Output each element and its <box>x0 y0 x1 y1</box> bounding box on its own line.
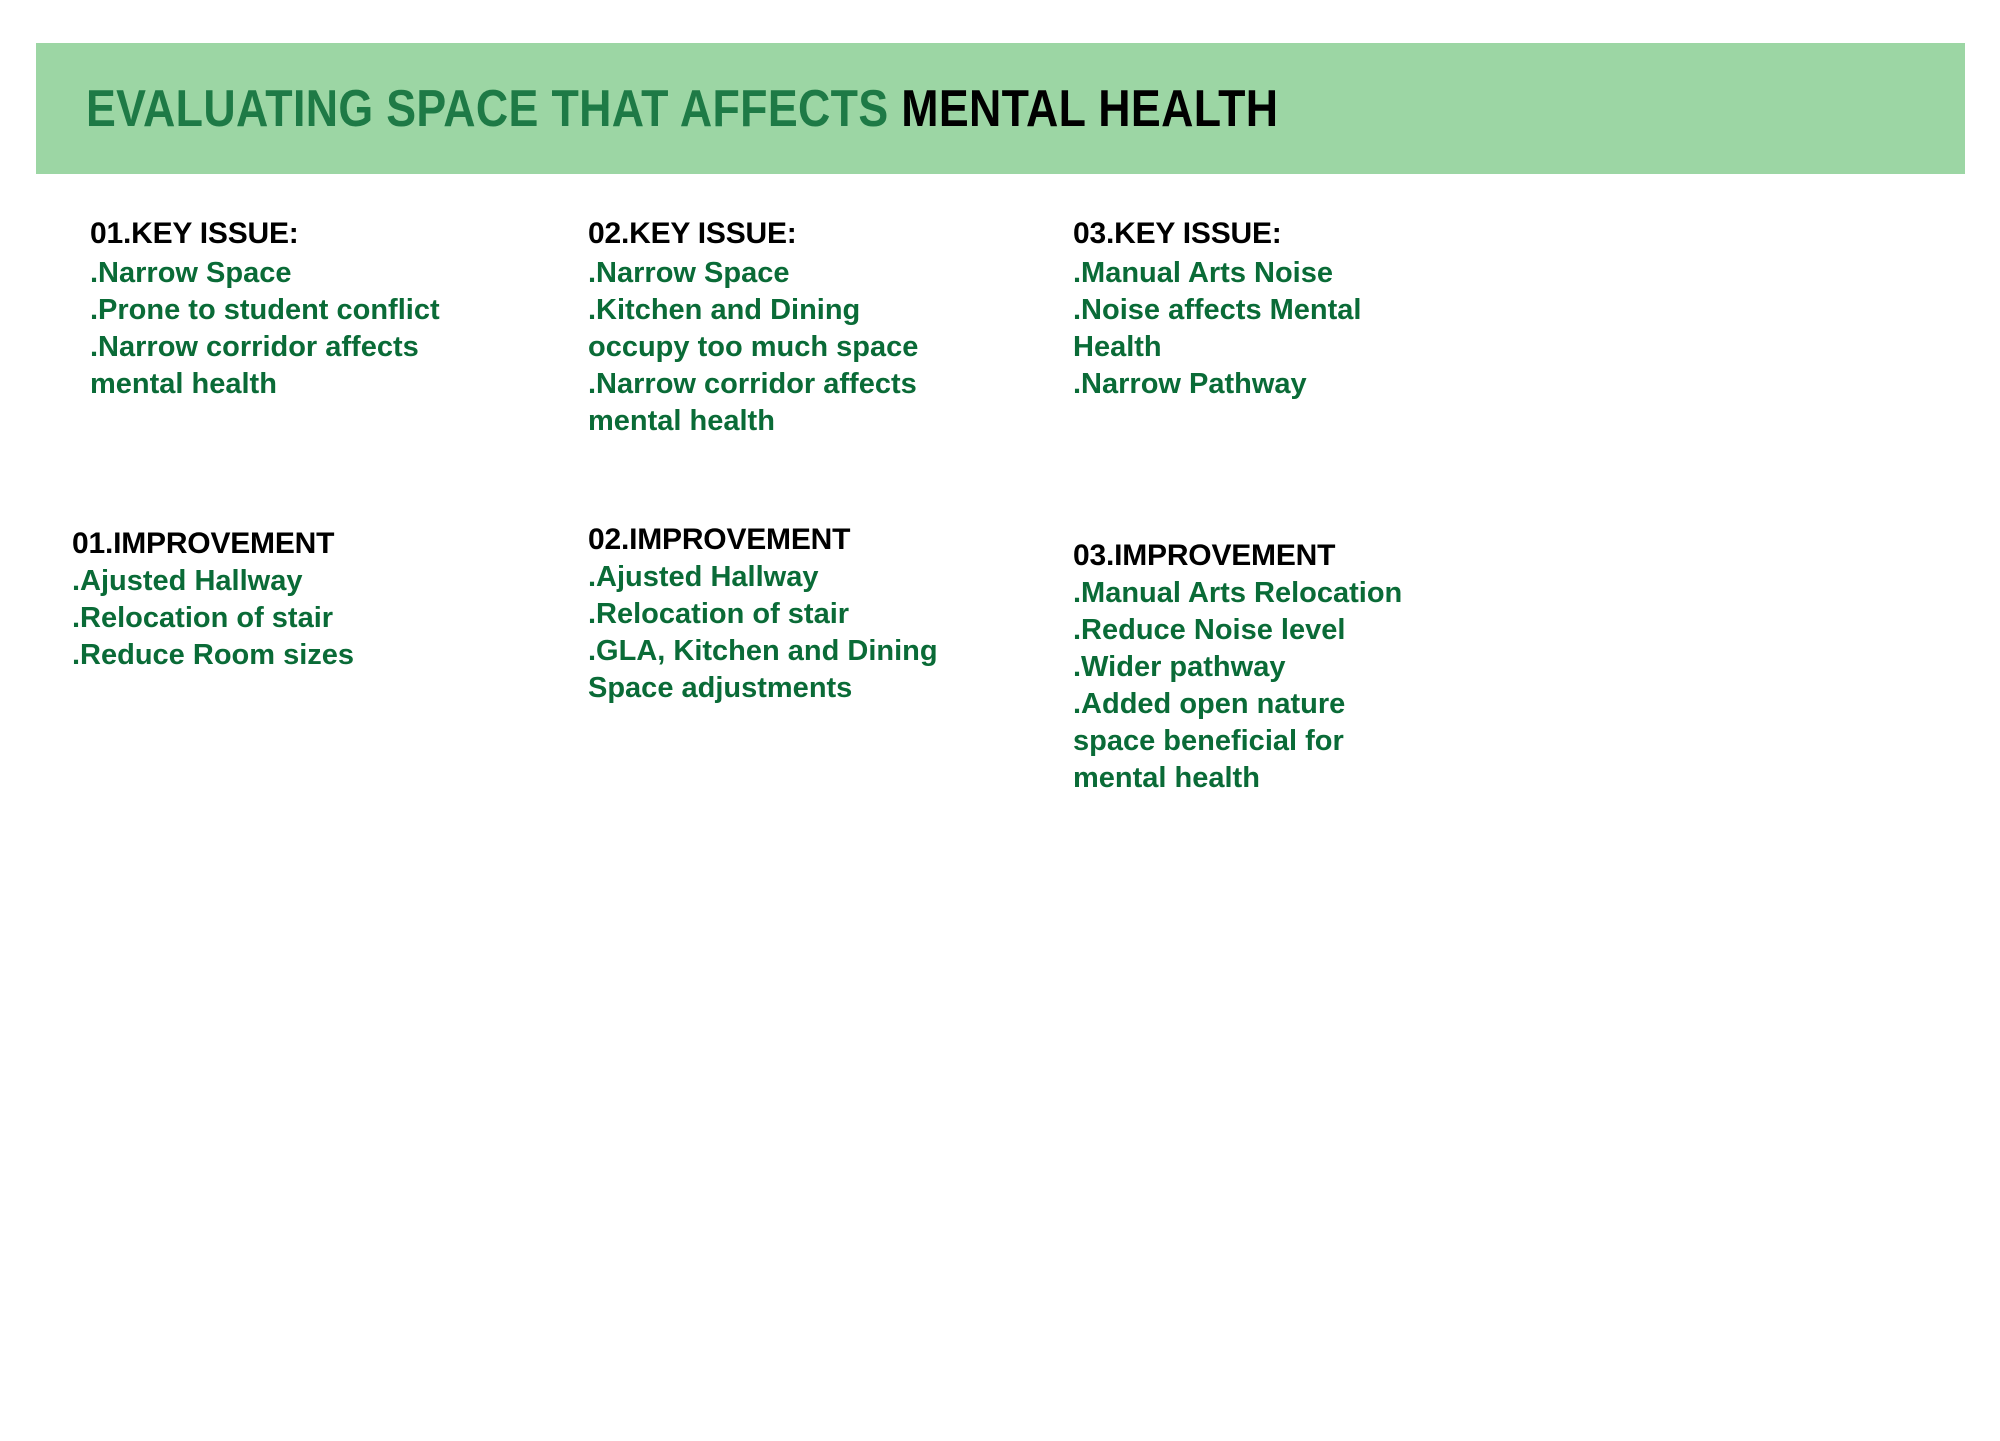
list-item: .Ajusted Hallway <box>72 563 354 600</box>
content-board: 01.KEY ISSUE: .Narrow Space .Prone to st… <box>0 174 2000 1441</box>
list-item: .Relocation of stair <box>588 596 938 633</box>
key-issue-heading-3: 03.KEY ISSUE: <box>1073 216 1361 251</box>
list-item: .Kitchen and Dining occupy too much spac… <box>588 292 918 366</box>
improvement-block-3: 03.IMPROVEMENT .Manual Arts Relocation .… <box>1073 538 1402 796</box>
improvement-list-3: .Manual Arts Relocation .Reduce Noise le… <box>1073 575 1402 796</box>
list-item: .Narrow corridor affects mental health <box>90 329 440 403</box>
list-item: .Noise affects Mental Health <box>1073 292 1361 366</box>
list-item: .Added open nature space beneficial for … <box>1073 686 1402 796</box>
key-issue-block-2: 02.KEY ISSUE: .Narrow Space .Kitchen and… <box>588 216 918 440</box>
list-item: .Manual Arts Relocation <box>1073 575 1402 612</box>
improvement-block-2: 02.IMPROVEMENT .Ajusted Hallway .Relocat… <box>588 522 938 707</box>
list-item: .Narrow Pathway <box>1073 366 1361 403</box>
page-title: EVALUATING SPACE THAT AFFECTS MENTAL HEA… <box>86 83 1278 135</box>
key-issue-heading-2: 02.KEY ISSUE: <box>588 216 918 251</box>
list-item: .Prone to student conflict <box>90 292 440 329</box>
list-item: .Reduce Room sizes <box>72 637 354 674</box>
improvement-heading-1: 01.IMPROVEMENT <box>72 526 354 561</box>
key-issue-list-3: .Manual Arts Noise .Noise affects Mental… <box>1073 255 1361 402</box>
list-item: .Wider pathway <box>1073 649 1402 686</box>
list-item: .Narrow Space <box>90 255 440 292</box>
key-issue-block-1: 01.KEY ISSUE: .Narrow Space .Prone to st… <box>90 216 440 403</box>
improvement-list-1: .Ajusted Hallway .Relocation of stair .R… <box>72 563 354 673</box>
improvement-heading-2: 02.IMPROVEMENT <box>588 522 938 557</box>
list-item: .Narrow corridor affects mental health <box>588 366 918 440</box>
list-item: .Reduce Noise level <box>1073 612 1402 649</box>
improvement-block-1: 01.IMPROVEMENT .Ajusted Hallway .Relocat… <box>72 526 354 674</box>
key-issue-heading-1: 01.KEY ISSUE: <box>90 216 440 251</box>
key-issue-list-1: .Narrow Space .Prone to student conflict… <box>90 255 440 402</box>
list-item: .Relocation of stair <box>72 600 354 637</box>
key-issue-list-2: .Narrow Space .Kitchen and Dining occupy… <box>588 255 918 439</box>
key-issue-block-3: 03.KEY ISSUE: .Manual Arts Noise .Noise … <box>1073 216 1361 403</box>
page-title-black-part: MENTAL HEALTH <box>889 80 1279 138</box>
list-item: .Ajusted Hallway <box>588 559 938 596</box>
improvement-list-2: .Ajusted Hallway .Relocation of stair .G… <box>588 559 938 706</box>
list-item: .Manual Arts Noise <box>1073 255 1361 292</box>
improvement-heading-3: 03.IMPROVEMENT <box>1073 538 1402 573</box>
list-item: .Narrow Space <box>588 255 918 292</box>
page-title-green-part: EVALUATING SPACE THAT AFFECTS <box>86 80 889 138</box>
header-band: EVALUATING SPACE THAT AFFECTS MENTAL HEA… <box>36 43 1965 174</box>
list-item: .GLA, Kitchen and Dining Space adjustmen… <box>588 633 938 707</box>
